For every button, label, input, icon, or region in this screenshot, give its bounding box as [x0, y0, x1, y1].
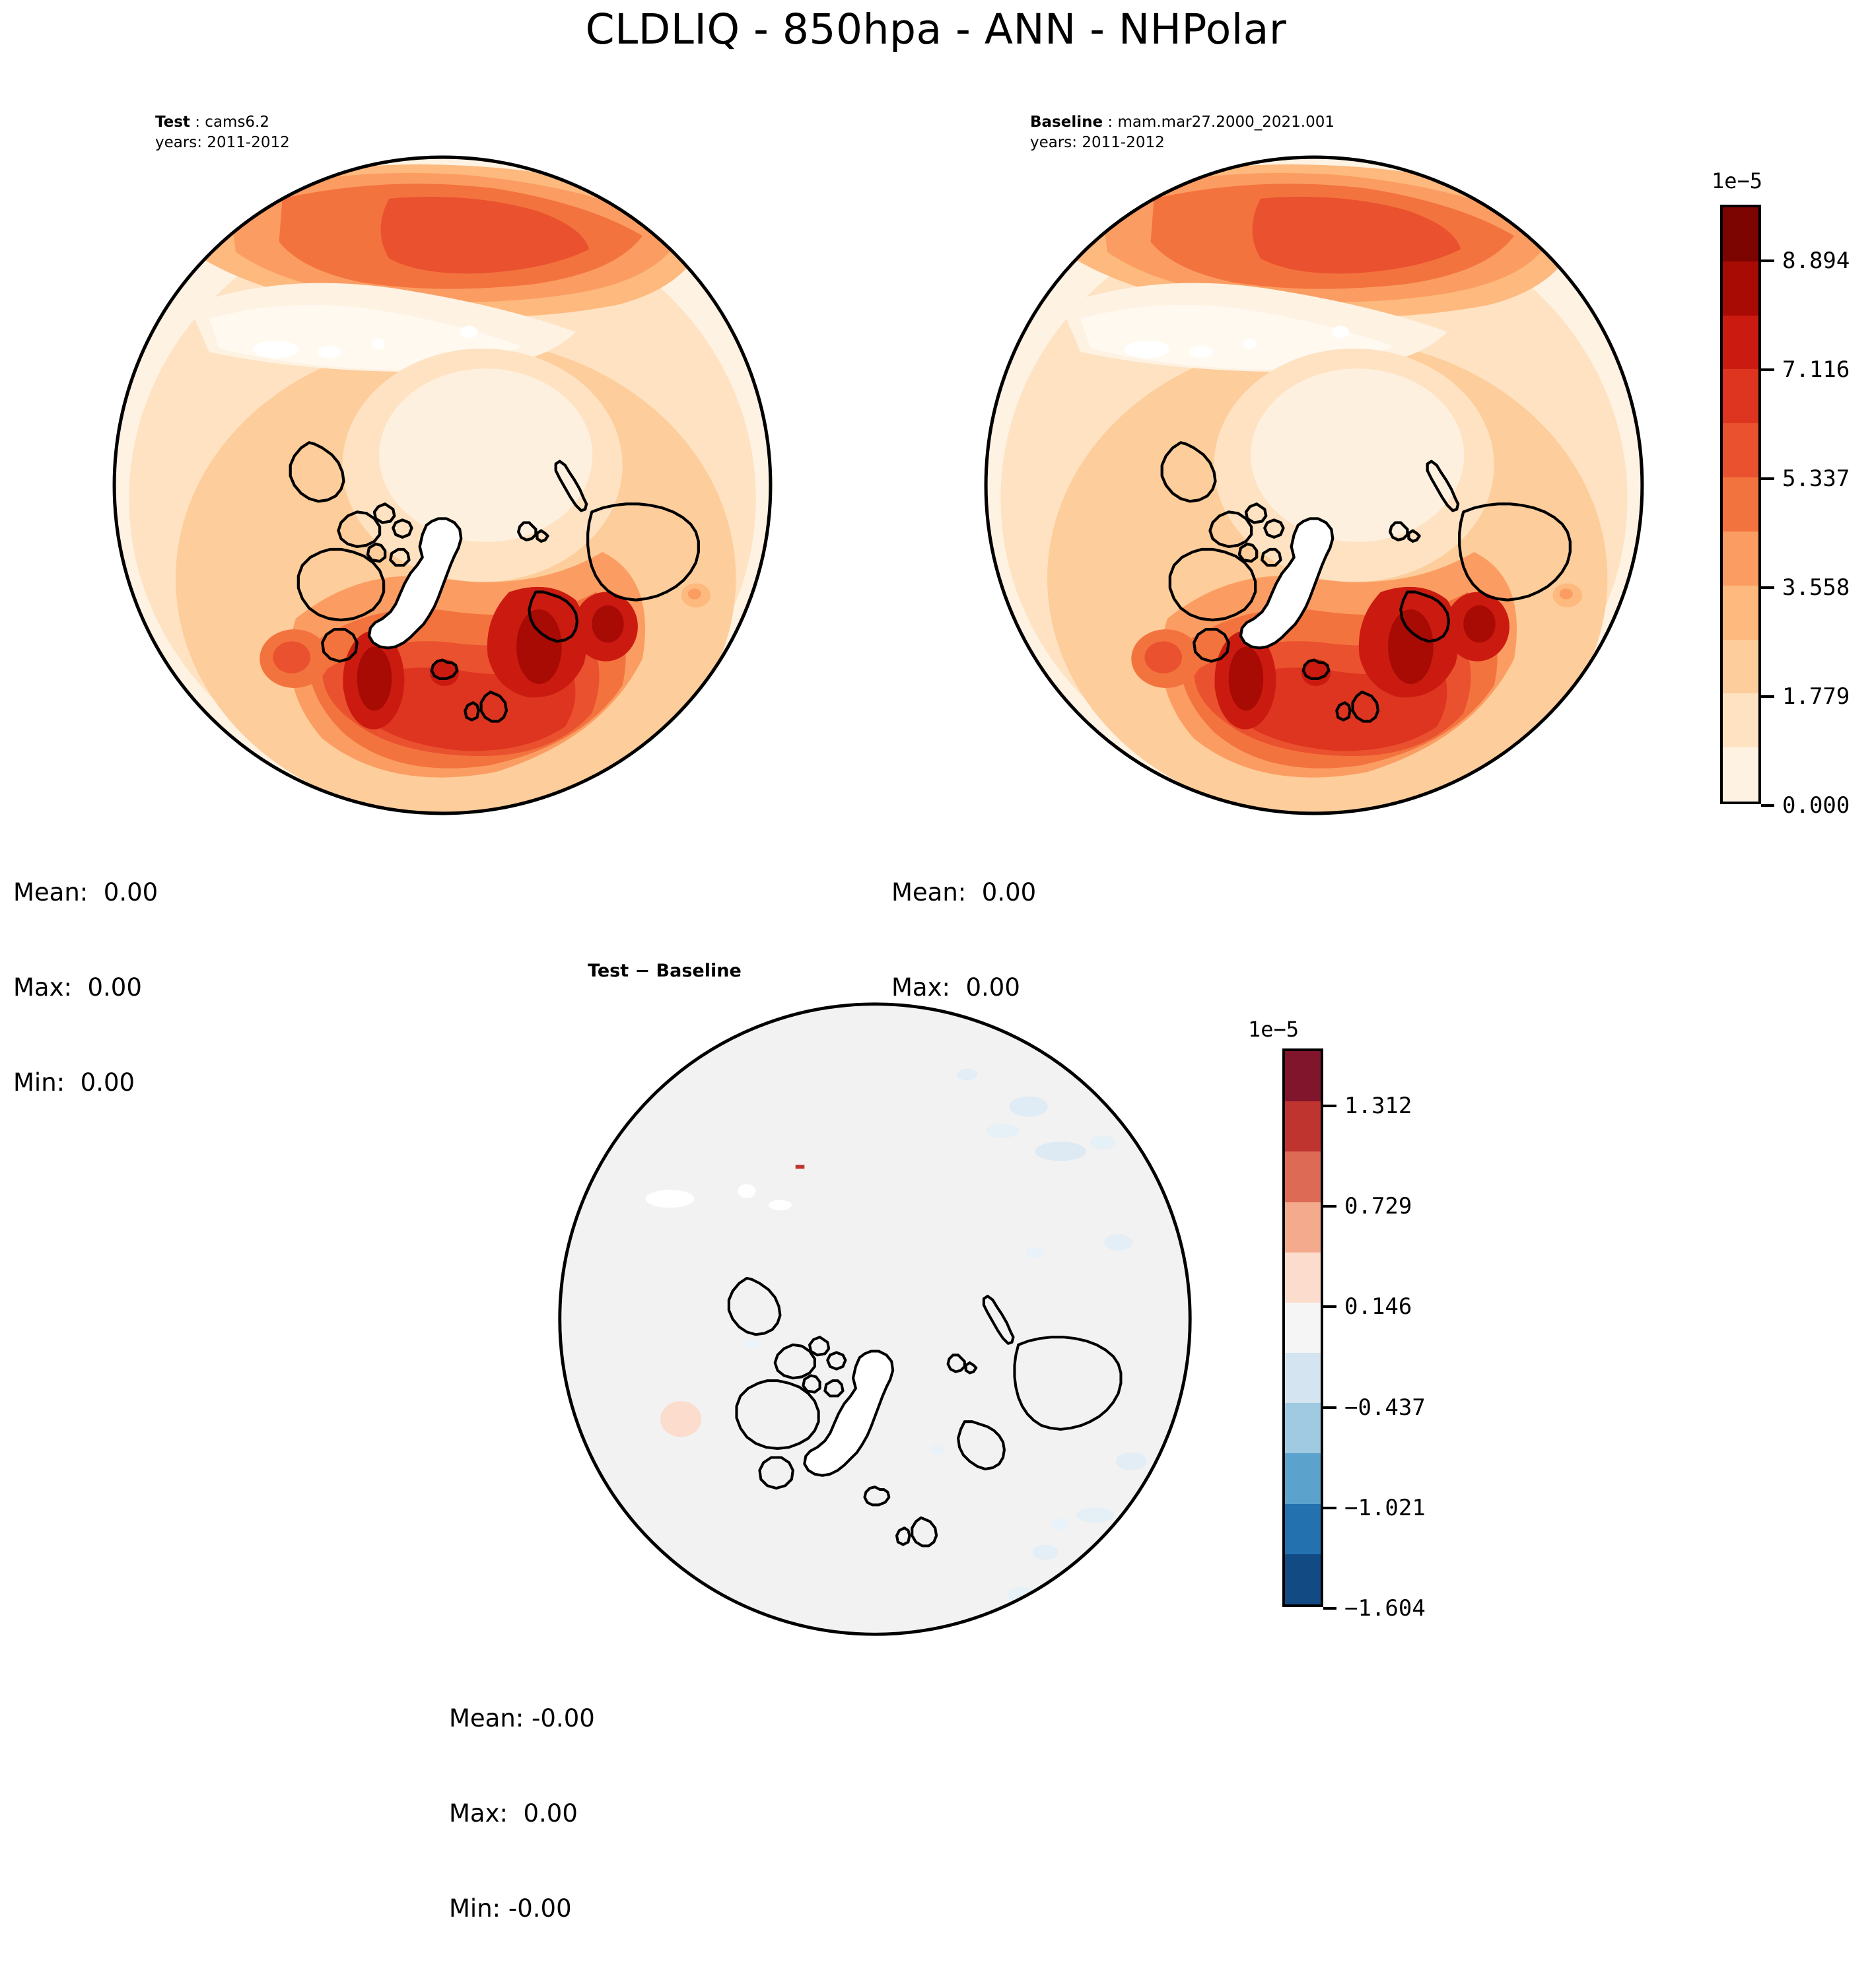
panel-baseline-header: Baseline : mam.mar27.2000_2021.001 years… — [1030, 112, 1335, 153]
colorbar-band — [1285, 1303, 1321, 1353]
colorbar-band — [1723, 477, 1758, 531]
colorbar-tick-label: 8.894 — [1782, 248, 1850, 274]
panel-baseline-header-key: Baseline — [1030, 114, 1103, 131]
colorbar-tick-label: 0.000 — [1782, 792, 1850, 819]
panel-test-stat-min: Min: 0.00 — [13, 1067, 158, 1099]
panel-test-header-value: cams6.2 — [205, 114, 269, 131]
panel-difference-header: Test − Baseline — [588, 961, 742, 981]
map-difference-field — [555, 999, 1195, 1639]
colorbar-band — [1723, 586, 1758, 640]
panel-difference: Test − Baseline — [541, 961, 1255, 1674]
colorbar-tick-label: 0.146 — [1344, 1293, 1412, 1320]
colorbar-tick-label: 3.558 — [1782, 574, 1850, 601]
colorbar-band — [1285, 1504, 1321, 1554]
colorbar-tick — [1761, 477, 1774, 480]
colorbar-tick — [1323, 1205, 1336, 1208]
colorbar-band — [1285, 1403, 1321, 1453]
colorbar-band — [1723, 423, 1758, 477]
colorbar-band — [1723, 261, 1758, 316]
colorbar-band — [1723, 640, 1758, 694]
panel-difference-stat-max: Max: 0.00 — [449, 1798, 595, 1830]
colorbar-band — [1285, 1252, 1321, 1303]
colorbar-tick-label: 5.337 — [1782, 465, 1850, 492]
colorbar-tick-label: 1.779 — [1782, 683, 1850, 710]
colorbar-tick-label: 1.312 — [1344, 1093, 1412, 1119]
colorbar-band — [1723, 531, 1758, 586]
colorbar-tick-label: 7.116 — [1782, 357, 1850, 383]
map-test-field — [109, 152, 776, 819]
colorbar-tick — [1761, 695, 1774, 698]
colorbar-tick-label: 0.729 — [1344, 1193, 1412, 1219]
figure-root: CLDLIQ - 850hpa - ANN - NHPolar — [0, 0, 1872, 1761]
map-test — [92, 152, 792, 819]
map-difference — [541, 999, 1208, 1639]
colorbar-band — [1285, 1554, 1321, 1604]
colorbar-band — [1723, 316, 1758, 370]
panel-test: Test : cams6.2 years: 2011-2012 — [92, 112, 806, 825]
colorbar-band — [1723, 747, 1758, 802]
colorbar-tick — [1323, 1507, 1336, 1509]
panel-test-years: years: 2011-2012 — [155, 133, 290, 153]
colorbar-band — [1285, 1101, 1321, 1151]
colorbar-band — [1723, 207, 1758, 261]
map-baseline-field — [981, 152, 1647, 819]
colorbar-tick — [1761, 259, 1774, 262]
panel-test-stats: Mean: 0.00 Max: 0.00 Min: 0.00 — [13, 813, 158, 1162]
colorbar-tick-label: −1.021 — [1344, 1495, 1426, 1521]
panel-test-stat-max: Max: 0.00 — [13, 972, 158, 1004]
panel-test-header: Test : cams6.2 years: 2011-2012 — [155, 112, 290, 153]
panel-difference-stats: Mean: -0.00 Max: 0.00 Min: -0.00 — [449, 1639, 595, 1988]
colorbar-tick — [1323, 1406, 1336, 1409]
panel-difference-stat-min: Min: -0.00 — [449, 1893, 595, 1925]
colorbar-band — [1285, 1151, 1321, 1202]
panel-difference-stat-mean: Mean: -0.00 — [449, 1703, 595, 1734]
colorbar-band — [1285, 1353, 1321, 1403]
colorbar-tick — [1761, 804, 1774, 807]
colorbar-band — [1285, 1051, 1321, 1101]
panel-test-stat-mean: Mean: 0.00 — [13, 877, 158, 908]
panel-test-header-sep: : — [190, 114, 205, 131]
panel-test-header-key: Test — [155, 114, 190, 131]
panel-baseline-header-sep: : — [1103, 114, 1117, 131]
colorbar-tick — [1761, 586, 1774, 589]
colorbar-tick-label: −1.604 — [1344, 1595, 1426, 1622]
colorbar-main-gradient[interactable] — [1720, 205, 1761, 804]
colorbar-band — [1723, 369, 1758, 423]
colorbar-diff-exponent: 1e−5 — [1248, 1017, 1299, 1042]
colorbar-band — [1285, 1453, 1321, 1503]
map-baseline — [964, 152, 1664, 819]
colorbar-diff: 1e−5 1.3120.7290.146−0.437−1.021−1.604 — [1241, 1017, 1439, 1651]
panel-baseline-years: years: 2011-2012 — [1030, 133, 1335, 153]
colorbar-tick-label: −0.437 — [1344, 1394, 1426, 1421]
page-title: CLDLIQ - 850hpa - ANN - NHPolar — [0, 5, 1872, 53]
panel-baseline: Baseline : mam.mar27.2000_2021.001 years… — [964, 112, 1677, 825]
panel-baseline-stat-mean: Mean: 0.00 — [891, 877, 1036, 908]
colorbar-main-exponent: 1e−5 — [1712, 168, 1762, 193]
colorbar-diff-gradient[interactable] — [1282, 1048, 1323, 1607]
colorbar-main: 1e−5 8.8947.1165.3373.5581.7790.000 — [1690, 168, 1872, 835]
panel-baseline-header-value: mam.mar27.2000_2021.001 — [1117, 114, 1335, 131]
colorbar-tick — [1323, 1105, 1336, 1107]
colorbar-tick — [1323, 1305, 1336, 1308]
colorbar-band — [1723, 693, 1758, 747]
colorbar-tick — [1761, 368, 1774, 371]
colorbar-band — [1285, 1202, 1321, 1252]
colorbar-tick — [1323, 1607, 1336, 1610]
